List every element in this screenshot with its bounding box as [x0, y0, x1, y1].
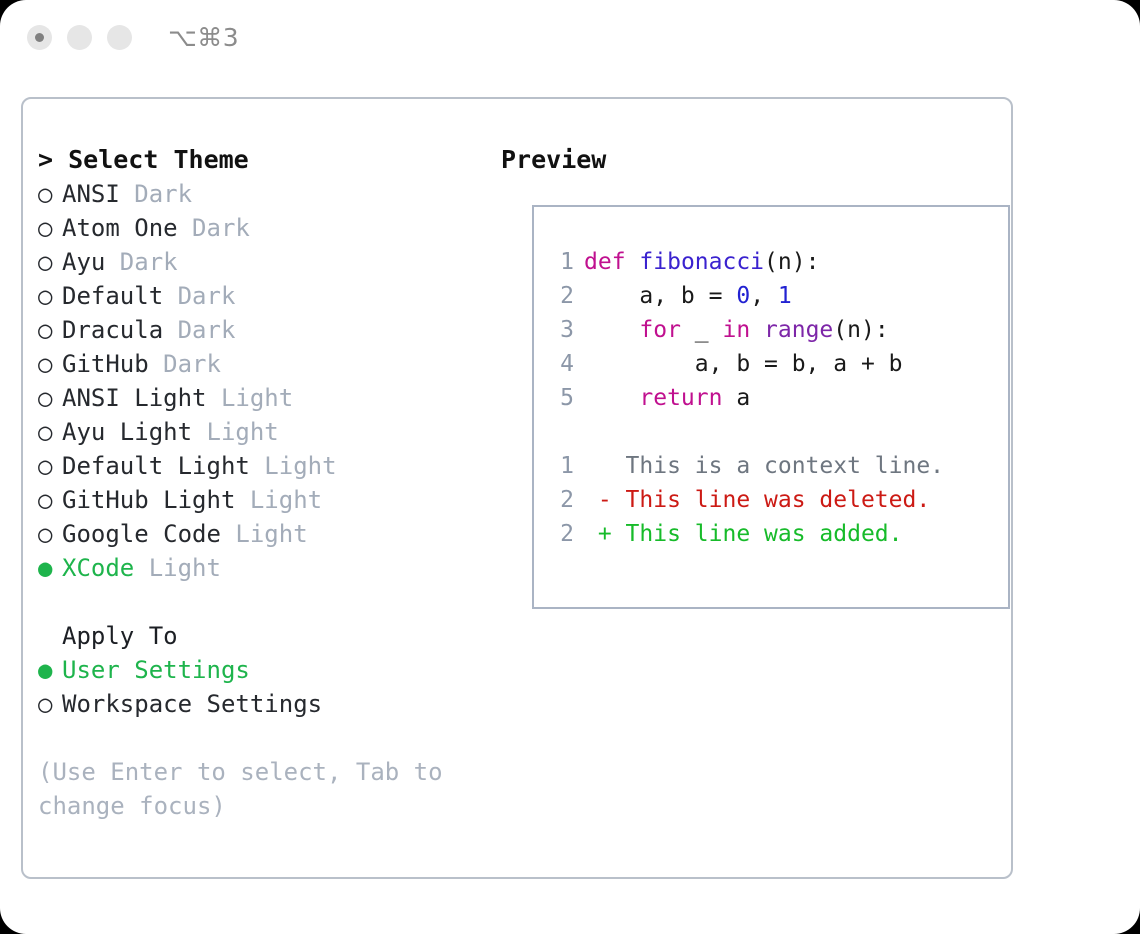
- theme-option-ansi[interactable]: ○ANSI Dark: [38, 177, 488, 211]
- radio-unselected-icon: ○: [38, 279, 62, 313]
- apply-to-header: Apply To: [38, 619, 488, 653]
- code-line-number: 2: [548, 279, 574, 313]
- code-token: def: [584, 249, 626, 275]
- radio-unselected-icon: ○: [38, 211, 62, 245]
- code-line: 5 return a: [548, 381, 944, 415]
- radio-unselected-icon: ○: [38, 381, 62, 415]
- theme-option-label: Dracula: [62, 316, 178, 344]
- code-token: [750, 317, 764, 343]
- diff-line-text: - This line was deleted.: [584, 487, 930, 513]
- diff-line-add: 2 + This line was added.: [548, 517, 944, 551]
- theme-option-variant: Light: [264, 452, 336, 480]
- code-line-number: 3: [548, 313, 574, 347]
- theme-option-google-code[interactable]: ○Google Code Light: [38, 517, 488, 551]
- code-token: [584, 317, 639, 343]
- diff-line-text: + This line was added.: [584, 521, 903, 547]
- code-token: for: [639, 317, 681, 343]
- select-theme-header: > Select Theme: [38, 143, 488, 177]
- code-token: a: [722, 385, 750, 411]
- radio-unselected-icon: ○: [38, 483, 62, 517]
- theme-option-label: Ayu Light: [62, 418, 207, 446]
- preview-box: 1def fibonacci(n):2 a, b = 0, 13 for _ i…: [532, 205, 1010, 609]
- theme-option-variant: Dark: [120, 248, 178, 276]
- theme-option-variant: Dark: [178, 282, 236, 310]
- code-token: a, b = b, a + b: [584, 351, 903, 377]
- theme-option-variant: Dark: [134, 180, 192, 208]
- code-token: fibonacci: [639, 249, 764, 275]
- diff-line-number: 1: [548, 449, 574, 483]
- diff-line-ctx: 1 This is a context line.: [548, 449, 944, 483]
- apply-to-option-label: Workspace Settings: [62, 690, 322, 718]
- apply-to-list: ●User Settings○Workspace Settings: [38, 653, 488, 721]
- diff-line-text: This is a context line.: [584, 453, 944, 479]
- theme-option-label: XCode: [62, 554, 149, 582]
- radio-selected-icon: ●: [38, 551, 62, 585]
- code-token: 0: [736, 283, 750, 309]
- code-diff-separator: [548, 415, 944, 449]
- theme-option-atom-one[interactable]: ○Atom One Dark: [38, 211, 488, 245]
- theme-option-xcode[interactable]: ●XCode Light: [38, 551, 488, 585]
- code-token: ,: [750, 283, 778, 309]
- radio-unselected-icon: ○: [38, 245, 62, 279]
- code-token: in: [722, 317, 750, 343]
- theme-option-default-light[interactable]: ○Default Light Light: [38, 449, 488, 483]
- code-line: 1def fibonacci(n):: [548, 245, 944, 279]
- apply-to-option-user-settings[interactable]: ●User Settings: [38, 653, 488, 687]
- theme-option-variant: Dark: [192, 214, 250, 242]
- theme-list: ○ANSI Dark○Atom One Dark○Ayu Dark○Defaul…: [38, 177, 488, 585]
- theme-option-variant: Dark: [178, 316, 236, 344]
- theme-option-ansi-light[interactable]: ○ANSI Light Light: [38, 381, 488, 415]
- theme-option-label: ANSI: [62, 180, 134, 208]
- hint-spacer: [38, 721, 488, 755]
- radio-unselected-icon: ○: [38, 415, 62, 449]
- radio-unselected-icon: ○: [38, 177, 62, 211]
- code-line-number: 5: [548, 381, 574, 415]
- theme-option-variant: Light: [149, 554, 221, 582]
- code-token: (n):: [764, 249, 819, 275]
- theme-option-ayu[interactable]: ○Ayu Dark: [38, 245, 488, 279]
- theme-option-default[interactable]: ○Default Dark: [38, 279, 488, 313]
- code-token: 1: [778, 283, 792, 309]
- main-panel: > Select Theme ○ANSI Dark○Atom One Dark○…: [21, 97, 1013, 879]
- code-line-number: 4: [548, 347, 574, 381]
- code-line: 3 for _ in range(n):: [548, 313, 944, 347]
- theme-option-label: GitHub: [62, 350, 163, 378]
- code-token: a, b =: [584, 283, 736, 309]
- code-token: [584, 385, 639, 411]
- radio-unselected-icon: ○: [38, 687, 62, 721]
- apply-to-option-workspace-settings[interactable]: ○Workspace Settings: [38, 687, 488, 721]
- theme-option-label: Ayu: [62, 248, 120, 276]
- window-button-2[interactable]: [67, 25, 92, 50]
- diff-line-number: 2: [548, 517, 574, 551]
- code-token: return: [639, 385, 722, 411]
- theme-option-variant: Dark: [163, 350, 221, 378]
- keyboard-hint: (Use Enter to select, Tab to change focu…: [38, 755, 448, 823]
- window-button-active[interactable]: [27, 25, 52, 50]
- theme-option-label: Google Code: [62, 520, 235, 548]
- theme-option-variant: Light: [221, 384, 293, 412]
- diff-line-number: 2: [548, 483, 574, 517]
- theme-option-label: GitHub Light: [62, 486, 250, 514]
- radio-unselected-icon: ○: [38, 517, 62, 551]
- theme-option-label: Atom One: [62, 214, 192, 242]
- keyboard-shortcut-label: ⌥⌘3: [168, 23, 239, 52]
- theme-option-variant: Light: [250, 486, 322, 514]
- radio-selected-icon: ●: [38, 653, 62, 687]
- code-preview: 1def fibonacci(n):2 a, b = 0, 13 for _ i…: [548, 245, 944, 551]
- radio-unselected-icon: ○: [38, 347, 62, 381]
- diff-line-del: 2 - This line was deleted.: [548, 483, 944, 517]
- code-line: 4 a, b = b, a + b: [548, 347, 944, 381]
- theme-option-label: Default: [62, 282, 178, 310]
- theme-option-github-light[interactable]: ○GitHub Light Light: [38, 483, 488, 517]
- list-spacer: [38, 585, 488, 619]
- theme-option-github[interactable]: ○GitHub Dark: [38, 347, 488, 381]
- theme-option-variant: Light: [235, 520, 307, 548]
- theme-option-label: ANSI Light: [62, 384, 221, 412]
- code-token: (n):: [833, 317, 888, 343]
- preview-column: Preview 1def fibonacci(n):2 a, b = 0, 13…: [501, 143, 1001, 177]
- title-bar: ⌥⌘3: [0, 0, 1140, 78]
- code-token: range: [764, 317, 833, 343]
- window-button-3[interactable]: [107, 25, 132, 50]
- code-line: 2 a, b = 0, 1: [548, 279, 944, 313]
- code-token: [626, 249, 640, 275]
- radio-unselected-icon: ○: [38, 313, 62, 347]
- theme-picker-column: > Select Theme ○ANSI Dark○Atom One Dark○…: [38, 143, 488, 823]
- theme-option-variant: Light: [207, 418, 279, 446]
- theme-option-ayu-light[interactable]: ○Ayu Light Light: [38, 415, 488, 449]
- preview-title: Preview: [501, 143, 1001, 177]
- theme-option-dracula[interactable]: ○Dracula Dark: [38, 313, 488, 347]
- theme-option-label: Default Light: [62, 452, 264, 480]
- window-controls: [27, 25, 132, 50]
- code-line-number: 1: [548, 245, 574, 279]
- radio-unselected-icon: ○: [38, 449, 62, 483]
- code-token: _: [681, 317, 723, 343]
- apply-to-option-label: User Settings: [62, 656, 250, 684]
- app-window: ⌥⌘3 > Select Theme ○ANSI Dark○Atom One D…: [0, 0, 1140, 934]
- window-button-active-dot: [35, 33, 44, 42]
